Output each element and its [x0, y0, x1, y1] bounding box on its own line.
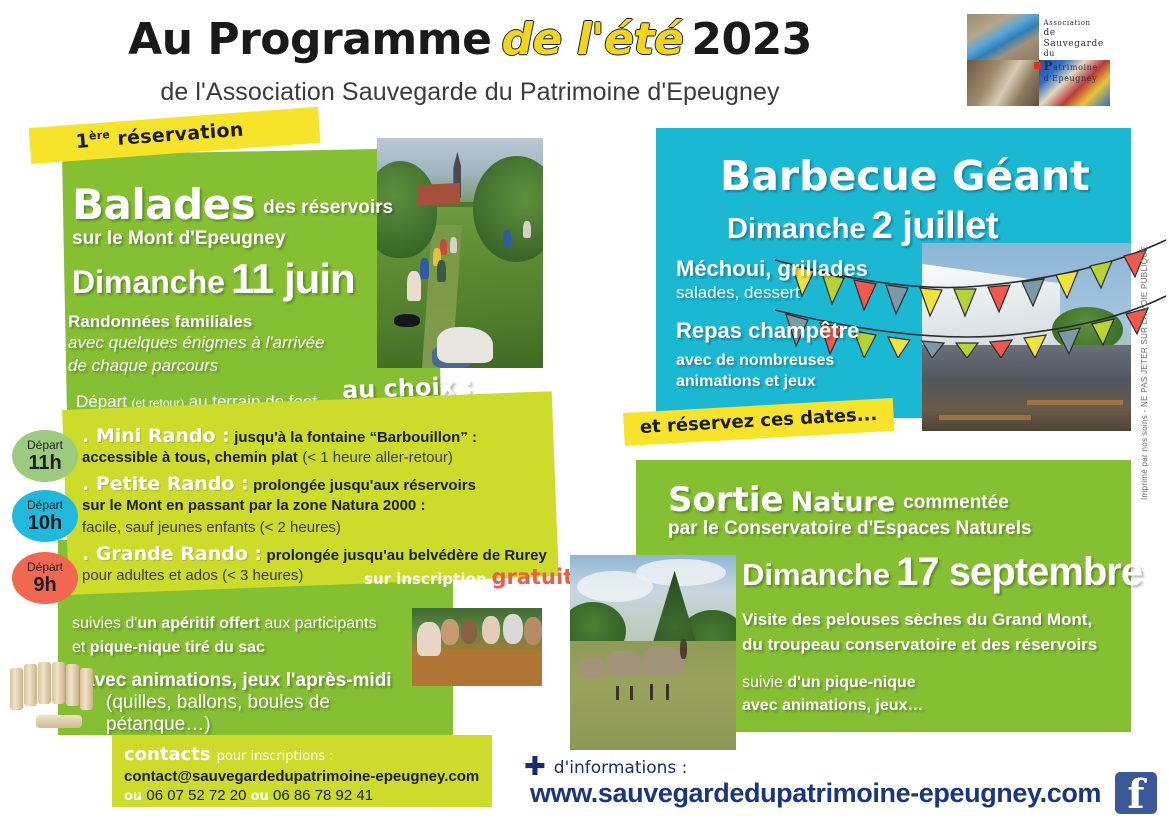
depart-badge-10h-label: Départ — [27, 499, 63, 511]
sortie-body: Visite des pelouses sèches du Grand Mont… — [742, 608, 1132, 718]
logo-tile-gears — [967, 60, 1039, 106]
apres-line-1: suivies d'un apéritif offert aux partici… — [72, 612, 412, 636]
barbecue-menu: Méchoui, grillades salades, dessert — [676, 256, 926, 303]
depart-badge-11h-label: Départ — [27, 439, 63, 451]
ribbon-word: réservation — [110, 119, 245, 151]
depart-badge-10h-hour: 10h — [28, 513, 62, 533]
logo-red-dot — [1034, 62, 1041, 69]
balades-date: Dimanche11 juin — [72, 255, 355, 303]
photo-chevaux — [570, 555, 736, 750]
rando-petite-line1: prolongée jusqu'aux réservoirs — [253, 477, 476, 494]
contacts-phone-1[interactable]: 06 07 52 72 20 — [146, 787, 246, 804]
logo-line-3-rest: atrimoine — [1053, 63, 1098, 72]
sortie-title: SortieNaturecommentée — [668, 480, 1009, 520]
animations-line-1: avec animations, jeux l'après-midi — [84, 670, 414, 692]
barbecue-repas: Repas champêtre avec de nombreuses anima… — [676, 318, 926, 392]
balades-date-number: 11 juin — [225, 255, 355, 302]
rando-grande-line1: prolongée jusqu'au belvédère de Rurey — [267, 547, 547, 564]
sortie-body-line-3a: suivie — [742, 674, 787, 691]
photo-hiker — [450, 237, 457, 253]
barbecue-menu-sub: salades, dessert — [676, 283, 926, 303]
logo-line-2: de Sauvegarde — [1044, 28, 1108, 50]
title-part-3: 2023 — [683, 14, 811, 65]
photo-horse-leg — [630, 686, 633, 700]
association-logo: Association de Sauvegarde du Patrimoine … — [967, 14, 1110, 106]
rando-item-grande-detail: pour adultes et ados (< 3 heures) — [82, 567, 303, 585]
sortie-date-word: Dimanche — [742, 557, 890, 592]
facebook-icon[interactable]: f — [1115, 772, 1157, 814]
photo-kubb-game — [8, 660, 106, 732]
balades-subtitle: sur le Mont d'Epeugney — [72, 228, 286, 250]
photo-photographer — [437, 327, 493, 363]
barbecue-menu-main: Méchoui, grillades — [676, 256, 926, 282]
barbecue-repas-main: Repas champêtre — [676, 318, 926, 344]
kubb-pin — [10, 668, 23, 710]
photo-hiker-girl — [407, 271, 421, 301]
balades-title-suffix: des réservoirs — [255, 197, 393, 218]
barbecue-date: Dimanche2 juillet — [727, 205, 998, 248]
photo-bbq-bench — [939, 415, 1031, 420]
contacts-ou-1: ou — [124, 789, 142, 804]
photo-person — [482, 616, 500, 644]
photo-barbecue — [922, 243, 1131, 431]
barbecue-date-number: 2 juillet — [866, 205, 998, 247]
photo-horse — [607, 651, 641, 675]
photo-horse — [643, 647, 683, 675]
balades-date-word: Dimanche — [72, 264, 225, 300]
rando-item-mini-detail: accessible à tous, chemin plat (< 1 heur… — [82, 449, 453, 467]
barbecue-repas-sub-line-1: avec de nombreuses — [676, 350, 926, 371]
rando-grande-title: . Grande Rando : — [82, 543, 262, 565]
barbecue-date-word: Dimanche — [727, 213, 866, 245]
contacts-phone-2[interactable]: 06 86 78 92 41 — [273, 787, 373, 804]
kubb-throwing-stick — [36, 715, 82, 728]
rando-petite-line2-reg: facile, sauf jeunes enfants (< 2 heures) — [82, 519, 341, 536]
kubb-pin — [52, 662, 65, 704]
apres-line-2b: pique-nique tiré du sac — [90, 639, 265, 656]
contacts-heading-row: contactspour inscriptions : — [124, 744, 484, 765]
page-subtitle: de l'Association Sauvegarde du Patrimoin… — [0, 78, 940, 107]
rando-item-petite-detail2: facile, sauf jeunes enfants (< 2 heures) — [82, 519, 341, 537]
logo-line-4-rest: peugney — [1058, 74, 1097, 83]
photo-person — [524, 617, 542, 645]
rando-petite-title: . Petite Rando : — [82, 473, 249, 495]
kubb-pin — [24, 664, 37, 706]
logo-line-3-cap: P — [1044, 59, 1054, 73]
contacts-email[interactable]: contact@sauvegardedupatrimoine-epeugney.… — [124, 768, 484, 785]
footer-website-url[interactable]: www.sauvegardedupatrimoine-epeugney.com — [530, 778, 1101, 809]
logo-line-1: Association — [1044, 19, 1108, 28]
sortie-title-third: commentée — [895, 492, 1009, 513]
title-part-2: de l'été — [491, 14, 683, 65]
facebook-glyph: f — [1115, 772, 1157, 814]
logo-line-4: d'Epeugney — [1044, 74, 1108, 84]
rando-mini-line2-reg: (< 1 heure aller-retour) — [302, 449, 452, 466]
depart-badge-9h-label: Départ — [27, 561, 63, 573]
depart-badge-11h-hour: 11h — [28, 453, 61, 473]
sortie-title-second: Nature — [784, 487, 896, 518]
animations-text: avec animations, jeux l'après-midi (quil… — [84, 670, 414, 736]
photo-horse-leg — [666, 684, 669, 700]
rando-mini-line2-bold: accessible à tous, chemin plat — [82, 449, 298, 466]
contacts-heading-suffix: pour inscriptions : — [211, 749, 334, 764]
depart-badge-10h: Départ 10h — [12, 490, 78, 542]
photo-hiker — [523, 221, 531, 238]
apres-rando-text: suivies d'un apéritif offert aux partici… — [72, 612, 412, 660]
rando-item-mini: . Mini Rando : jusqu'à la fontaine “Barb… — [82, 425, 477, 447]
apres-line-2: et pique-nique tiré du sac — [72, 636, 412, 660]
logo-line-4-small: d'E — [1044, 74, 1059, 83]
animations-line-2: (quilles, ballons, boules de pétanque…) — [84, 692, 414, 736]
photo-picnic — [412, 608, 542, 686]
poster-canvas: Au Programmede l'été2023 de l'Associatio… — [0, 0, 1169, 827]
contacts-phones: ou 06 07 52 72 20 ou 06 86 78 92 41 — [124, 787, 484, 804]
photo-horse-leg — [616, 686, 619, 700]
photo-picnic-table — [412, 656, 542, 686]
sortie-body-line-1: Visite des pelouses sèches du Grand Mont… — [742, 608, 1132, 633]
ribbon-first-reservation-label: 1ère réservation — [75, 118, 244, 153]
rando-item-grande: . Grande Rando : prolongée jusqu'au belv… — [82, 543, 547, 565]
photo-bbq-bench — [1027, 400, 1123, 405]
apres-line-1b: un apéritif offert — [137, 615, 260, 632]
contacts-heading: contacts — [124, 744, 211, 765]
logo-line-3: du Patrimoine — [1044, 49, 1108, 73]
sortie-body-line-4-text: avec animations, jeux… — [742, 697, 923, 714]
sortie-body-line-3: suivie d'un pique-nique — [742, 671, 1132, 694]
contacts-content: contactspour inscriptions : contact@sauv… — [124, 744, 484, 804]
inscription-gratuite: sur inscriptiongratuite — [364, 565, 587, 589]
rando-mini-title: . Mini Rando : — [82, 425, 230, 447]
photo-horse-mane — [680, 639, 687, 659]
balades-desc-line-2: avec quelques énigmes à l'arrivée — [68, 332, 388, 355]
ribbon-ordinal: ère — [88, 128, 110, 143]
depart-badge-9h: Départ 9h — [12, 552, 78, 604]
photo-hiker — [437, 260, 446, 282]
photo-person — [441, 619, 459, 645]
sortie-subtitle: par le Conservatoire d'Espaces Naturels — [668, 518, 1032, 540]
sortie-date: Dimanche17 septembre — [742, 550, 1142, 595]
photo-hiker — [503, 230, 511, 247]
legal-notice: Imprimé par nos soins - NE PAS JETER SUR… — [1140, 300, 1149, 500]
barbecue-repas-sub: avec de nombreuses animations et jeux — [676, 350, 926, 392]
photo-horse — [580, 658, 606, 677]
title-part-1: Au Programme — [128, 14, 491, 65]
rando-item-petite-detail: sur le Mont en passant par la zone Natur… — [82, 497, 425, 515]
kubb-pin — [66, 664, 79, 706]
kubb-pin — [38, 662, 51, 704]
depart-badge-11h: Départ 11h — [12, 430, 78, 482]
apres-line-2a: et — [72, 639, 90, 656]
rando-grande-line2-reg: pour adultes et ados (< 3 heures) — [82, 567, 303, 584]
barbecue-title: Barbecue Géant — [720, 152, 1090, 200]
photo-hiker — [440, 239, 447, 255]
footer-info-label: d'informations : — [546, 758, 688, 778]
apres-line-1a: suivies d' — [72, 615, 137, 632]
photo-hiker — [420, 258, 429, 279]
photo-cloud — [636, 559, 726, 586]
inscription-prefix: sur inscription — [364, 570, 486, 588]
sortie-title-main: Sortie — [668, 480, 784, 520]
sortie-body-line-3b: d'un pique-nique — [787, 674, 915, 691]
rando-item-petite: . Petite Rando : prolongée jusqu'aux rés… — [82, 473, 476, 495]
sortie-body-line-4: avec animations, jeux… — [742, 694, 1132, 717]
balades-desc-line-3: de chaque parcours — [68, 355, 388, 378]
sortie-date-number: 17 septembre — [890, 550, 1142, 594]
depart-badge-9h-hour: 9h — [33, 575, 56, 595]
barbecue-repas-sub-line-2: animations et jeux — [676, 371, 926, 392]
logo-text-block: Association de Sauvegarde du Patrimoine … — [1039, 14, 1111, 60]
page-title: Au Programmede l'été2023 — [0, 18, 940, 62]
apres-line-1c: aux participants — [260, 615, 377, 632]
photo-village-roof — [417, 183, 460, 206]
balades-desc-line-1: Randonnées familiales — [68, 312, 388, 332]
photo-randonneurs — [377, 138, 543, 368]
photo-horse-leg — [650, 684, 653, 700]
rando-mini-line1: jusqu'à la fontaine “Barbouillon” : — [234, 429, 477, 446]
sortie-body-line-2: du troupeau conservatoire et des réservo… — [742, 633, 1132, 658]
photo-person — [503, 614, 523, 644]
logo-line-3-small: du — [1044, 49, 1055, 58]
rando-petite-line2-bold: sur le Mont en passant par la zone Natur… — [82, 497, 425, 514]
photo-person — [417, 622, 441, 656]
balades-title: Baladesdes réservoirs — [72, 180, 402, 229]
balades-description: Randonnées familiales avec quelques énig… — [68, 312, 388, 378]
contacts-ou-2: ou — [251, 789, 269, 804]
balades-title-main: Balades — [72, 180, 255, 229]
logo-tile-mosaic — [967, 14, 1039, 60]
photo-dog — [394, 314, 420, 327]
kubb-pin — [80, 668, 93, 710]
